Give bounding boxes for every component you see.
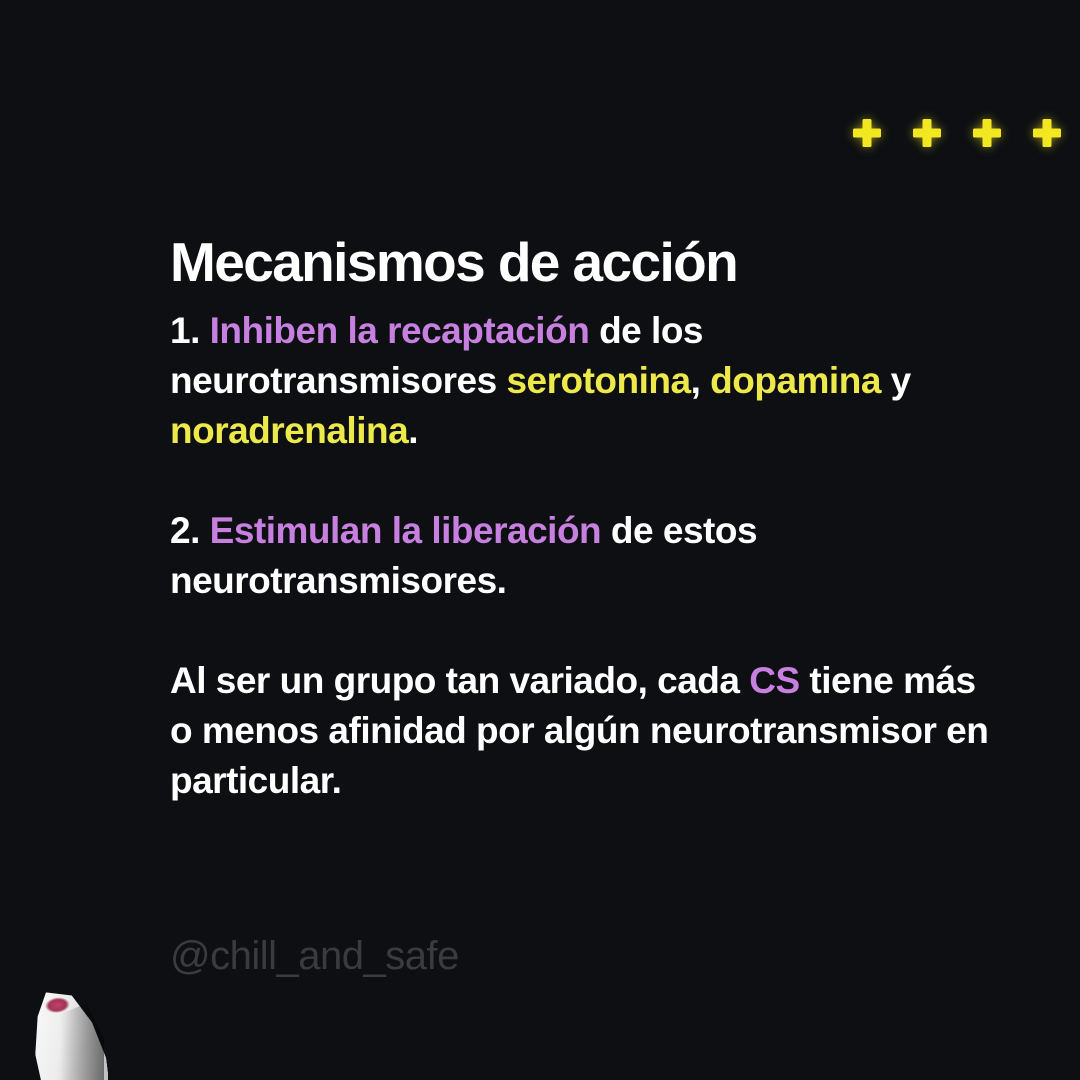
- photo-fragment-bottom-left: [0, 988, 108, 1080]
- social-post-slide: Mecanismos de acción 1. Inhiben la recap…: [0, 0, 1080, 1080]
- text-segment-purple: Inhiben la recaptación: [210, 310, 590, 351]
- paragraph-mechanism-1: 1. Inhiben la recaptación de los neurotr…: [170, 306, 1000, 456]
- plus-decoration-row: [852, 118, 1062, 148]
- text-segment-yellow: serotonina: [506, 360, 690, 401]
- page-title: Mecanismos de acción: [170, 233, 1030, 291]
- text-segment-white: Al ser un grupo tan variado, cada: [170, 660, 749, 701]
- photo-fragment-shadow: [60, 1000, 104, 1080]
- plus-icon: [1032, 118, 1062, 148]
- text-segment-white: ,: [691, 360, 711, 401]
- plus-icon: [972, 118, 1002, 148]
- paragraph-closing-note: Al ser un grupo tan variado, cada CS tie…: [170, 656, 1000, 806]
- text-segment-white: y: [881, 360, 911, 401]
- plus-icon: [912, 118, 942, 148]
- text-segment-white: 2.: [170, 510, 210, 551]
- text-segment-purple: CS: [749, 660, 799, 701]
- text-segment-yellow: dopamina: [710, 360, 881, 401]
- text-segment-white: 1.: [170, 310, 210, 351]
- body-content: 1. Inhiben la recaptación de los neurotr…: [170, 306, 1000, 806]
- text-segment-yellow: noradrenalina: [170, 410, 408, 451]
- text-segment-purple: Estimulan la liberación: [210, 510, 602, 551]
- plus-icon: [852, 118, 882, 148]
- account-handle-watermark: @chill_and_safe: [170, 934, 459, 979]
- text-segment-white: .: [408, 410, 418, 451]
- paragraph-mechanism-2: 2. Estimulan la liberación de estos neur…: [170, 506, 1000, 606]
